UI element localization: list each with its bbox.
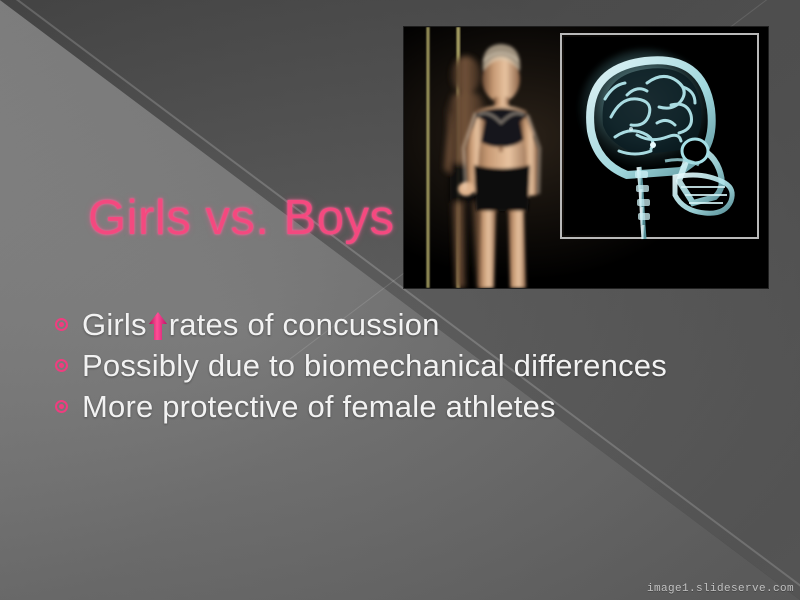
bullet-target-icon bbox=[52, 306, 74, 341]
photo-artwork bbox=[404, 27, 768, 288]
list-item: Possibly due to biomechanical difference… bbox=[52, 347, 712, 384]
bullet-text-3: More protective of female athletes bbox=[82, 388, 556, 425]
list-item: More protective of female athletes bbox=[52, 388, 712, 425]
list-item: Girls rates of concussion bbox=[52, 306, 712, 343]
watermark: image1.slideserve.com bbox=[647, 583, 794, 595]
bullet-target-icon bbox=[52, 347, 74, 382]
bullet-target-icon bbox=[52, 388, 74, 423]
xray-frame-group bbox=[561, 34, 758, 239]
up-arrow-icon bbox=[148, 311, 168, 341]
bullet-list: Girls rates of concussion bbox=[52, 306, 712, 429]
slide-title: Girls vs. Boys bbox=[88, 190, 394, 246]
bullet-text-2: Possibly due to biomechanical difference… bbox=[82, 347, 667, 384]
bullet-1-suffix: rates of concussion bbox=[169, 307, 440, 342]
presentation-slide: Girls vs. Boys Girls rat bbox=[0, 0, 800, 600]
bullet-text-1: Girls rates of concussion bbox=[82, 306, 440, 343]
bullet-1-prefix: Girls bbox=[82, 307, 147, 342]
slide-photo bbox=[404, 27, 768, 288]
